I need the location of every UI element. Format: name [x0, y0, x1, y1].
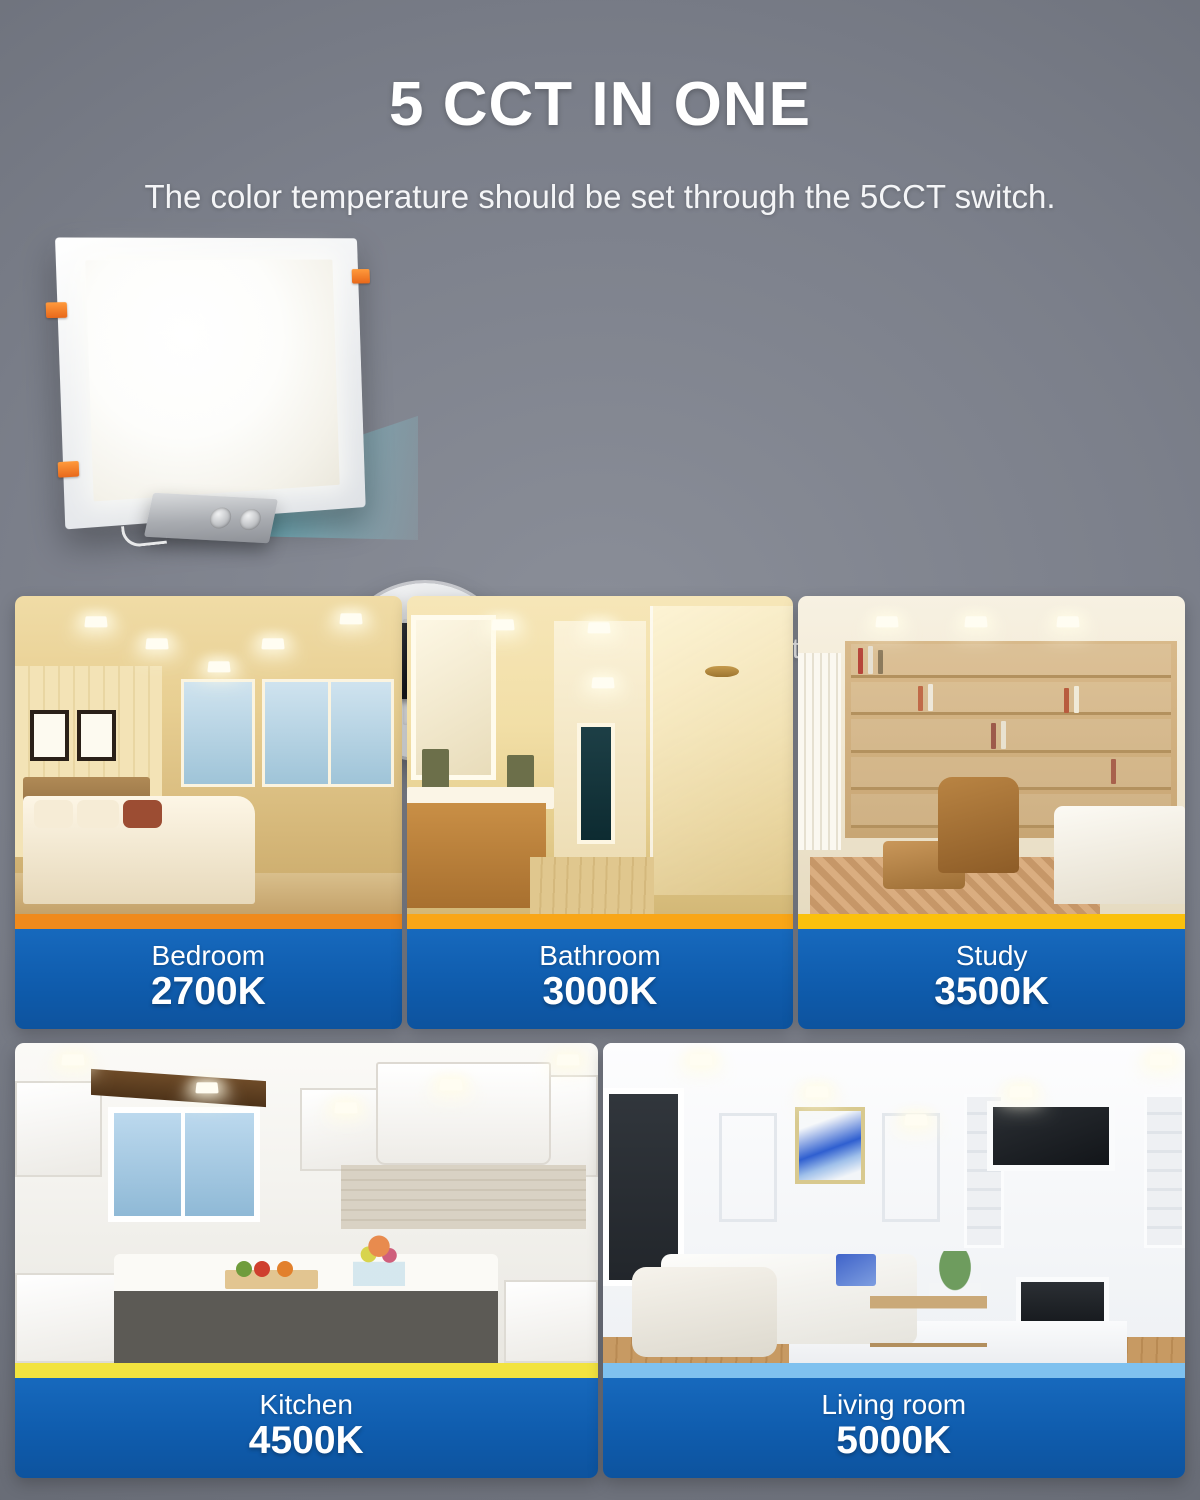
room-kelvin: 2700K — [151, 971, 266, 1014]
coffee-table — [870, 1296, 987, 1347]
bedroom-scene — [15, 596, 402, 914]
panel-diffuser — [85, 260, 340, 501]
recessed-light — [1057, 616, 1080, 627]
shelf-row — [851, 644, 1170, 678]
mounting-clip-icon — [58, 461, 80, 478]
study-scene — [798, 596, 1185, 914]
recessed-light — [806, 1086, 829, 1097]
mounting-clip-icon — [352, 269, 370, 284]
book — [1064, 688, 1069, 714]
room-name: Kitchen — [260, 1390, 353, 1419]
product-hero: 1. 2700K 2. 3000K 3. 3500K 4. 4000K 5. 5… — [0, 238, 1200, 558]
shelf-row — [851, 719, 1170, 753]
kitchen-window — [108, 1107, 259, 1222]
room-kelvin: 4500K — [249, 1420, 364, 1463]
pillow — [34, 800, 73, 829]
book — [1074, 686, 1079, 714]
produce — [236, 1261, 252, 1277]
accent-strip-bedroom — [15, 914, 402, 929]
book — [868, 646, 873, 674]
wall-moulding — [719, 1113, 777, 1222]
room-photo-kitchen — [15, 1043, 598, 1363]
room-name: Study — [956, 941, 1028, 970]
window — [328, 679, 394, 787]
book — [878, 650, 883, 674]
room-caption-living-room: Living room 5000K — [603, 1378, 1186, 1478]
bathroom-scene — [407, 596, 794, 914]
pillow — [77, 800, 120, 829]
flower-vase — [353, 1235, 405, 1286]
blue-pillow — [836, 1254, 877, 1286]
recessed-light — [208, 661, 231, 672]
framed-art — [30, 710, 69, 761]
page-title: 5 CCT IN ONE — [0, 74, 1200, 136]
shower-head — [705, 666, 739, 677]
recessed-light — [262, 639, 285, 650]
book — [1111, 759, 1116, 785]
window — [262, 679, 335, 787]
framed-art — [77, 710, 116, 761]
room-caption-bathroom: Bathroom 3000K — [407, 929, 794, 1029]
recessed-light — [905, 1115, 928, 1126]
recessed-light — [146, 639, 169, 650]
room-showcase: Bedroom 2700K — [15, 596, 1185, 1478]
recessed-light — [556, 1054, 579, 1065]
glass-shower — [650, 606, 793, 895]
recessed-light — [335, 1102, 358, 1113]
window — [181, 679, 254, 787]
recessed-light — [440, 1079, 463, 1090]
accent-strip-kitchen — [15, 1363, 598, 1378]
room-kelvin: 5000K — [836, 1420, 951, 1463]
mounting-clip-icon — [46, 302, 68, 318]
header: 5 CCT IN ONE The color temperature shoul… — [0, 0, 1200, 216]
book — [991, 723, 996, 749]
abstract-artwork — [795, 1107, 865, 1184]
room-kelvin: 3500K — [934, 971, 1049, 1014]
stone-backsplash — [341, 1165, 586, 1229]
range-hood — [376, 1062, 551, 1164]
room-photo-living-room — [603, 1043, 1186, 1363]
room-card-study[interactable]: Study 3500K — [798, 596, 1185, 1029]
television — [987, 1101, 1115, 1171]
shelf-row — [851, 682, 1170, 716]
recessed-light — [1010, 1086, 1033, 1097]
recessed-light — [84, 616, 107, 627]
room-caption-kitchen: Kitchen 4500K — [15, 1378, 598, 1478]
recessed-light — [195, 1083, 218, 1094]
recessed-light — [875, 616, 898, 627]
book — [1001, 721, 1006, 749]
room-photo-bedroom — [15, 596, 402, 914]
built-in-shelf — [1144, 1094, 1185, 1248]
wall-moulding — [882, 1113, 940, 1222]
accent-strip-bathroom — [407, 914, 794, 929]
led-panel-light-image — [55, 237, 366, 529]
book — [918, 686, 923, 712]
white-sofa — [1054, 806, 1185, 905]
room-row-top: Bedroom 2700K — [15, 596, 1185, 1029]
living-room-scene — [603, 1043, 1186, 1363]
power-wire — [121, 522, 167, 548]
room-photo-study — [798, 596, 1185, 914]
room-card-living-room[interactable]: Living room 5000K — [603, 1043, 1186, 1478]
accent-strip-living-room — [603, 1363, 1186, 1378]
lower-cabinet — [15, 1273, 120, 1363]
book — [928, 684, 933, 712]
recessed-light — [61, 1054, 84, 1065]
radiator — [798, 653, 841, 850]
wood-beam — [91, 1069, 266, 1107]
room-card-bathroom[interactable]: Bathroom 3000K — [407, 596, 794, 1029]
room-row-bottom: Kitchen 4500K — [15, 1043, 1185, 1478]
room-caption-bedroom: Bedroom 2700K — [15, 929, 402, 1029]
lower-cabinet — [504, 1280, 597, 1363]
room-caption-study: Study 3500K — [798, 929, 1185, 1029]
page-subtitle: The color temperature should be set thro… — [0, 178, 1200, 216]
room-name: Bedroom — [152, 941, 266, 970]
recessed-light — [491, 620, 514, 631]
upper-cabinet — [15, 1081, 102, 1177]
vanity-cabinet — [407, 803, 546, 908]
recessed-light — [964, 616, 987, 627]
recessed-light — [689, 1054, 712, 1065]
kitchen-scene — [15, 1043, 598, 1363]
recessed-light — [588, 623, 611, 634]
room-card-bedroom[interactable]: Bedroom 2700K — [15, 596, 402, 1029]
book — [858, 648, 863, 674]
room-kelvin: 3000K — [543, 971, 658, 1014]
room-name: Bathroom — [539, 941, 660, 970]
produce — [277, 1261, 293, 1277]
recessed-light — [339, 613, 362, 624]
window-mullion — [181, 1113, 185, 1216]
produce — [254, 1261, 270, 1277]
window-dark — [577, 723, 616, 844]
armchair — [632, 1267, 778, 1357]
room-photo-bathroom — [407, 596, 794, 914]
room-card-kitchen[interactable]: Kitchen 4500K — [15, 1043, 598, 1478]
leather-armchair — [938, 777, 1019, 872]
accent-pillow — [123, 800, 162, 829]
room-name: Living room — [821, 1390, 966, 1419]
recessed-light — [592, 677, 615, 688]
wood-floor — [530, 857, 654, 914]
accent-strip-study — [798, 914, 1185, 929]
